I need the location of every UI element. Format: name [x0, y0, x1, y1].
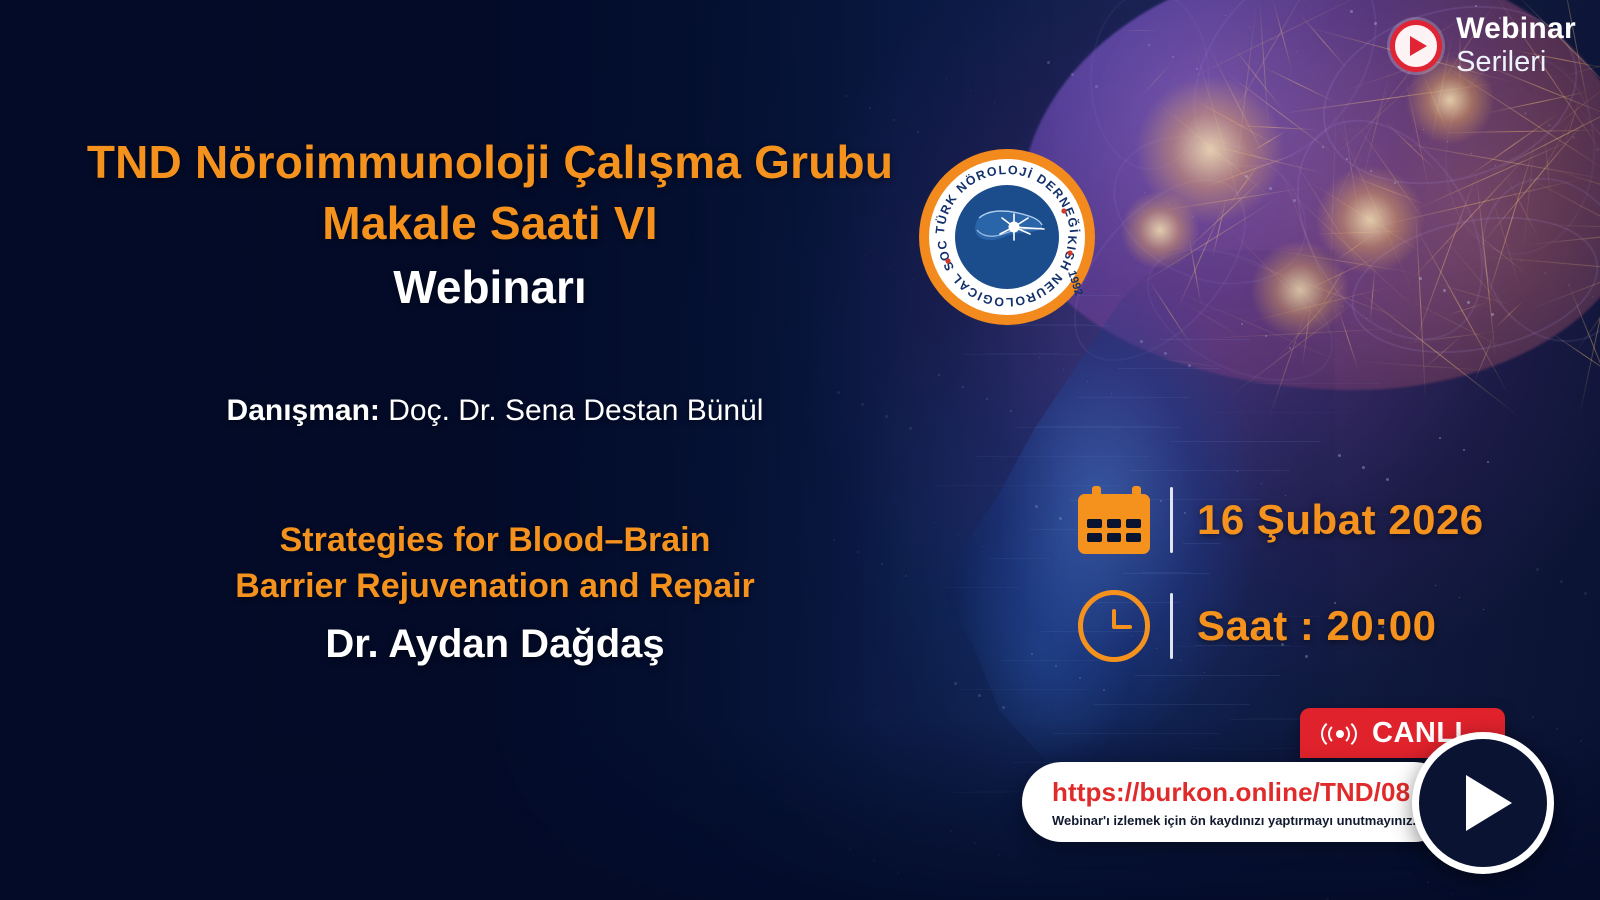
event-date-row: 16 Şubat 2026: [1078, 474, 1484, 566]
advisor-line: Danışman: Doç. Dr. Sena Destan Bünül: [0, 394, 990, 428]
registration-note: Webinar'ı izlemek için ön kaydınızı yapt…: [1052, 813, 1454, 828]
registration-url-bar[interactable]: https://burkon.online/TND/08 Webinar'ı i…: [1022, 762, 1454, 842]
series-line-1: Webinar: [1456, 14, 1576, 44]
registration-url[interactable]: https://burkon.online/TND/08: [1052, 777, 1454, 808]
paper-title-line-2: Barrier Rejuvenation and Repair: [0, 564, 990, 610]
webinar-poster: Webinar Serileri: [0, 0, 1600, 900]
advisor-label: Danışman:: [227, 394, 380, 427]
headline-block: TND Nöroimmunoloji Çalışma Grubu Makale …: [0, 132, 980, 318]
speaker-name: Dr. Aydan Dağdaş: [0, 622, 990, 667]
play-circle-icon: [1390, 20, 1442, 72]
neural-network-overlay: [1120, 30, 1580, 390]
broadcast-icon: [1318, 719, 1360, 747]
paper-title-block: Strategies for Blood–Brain Barrier Rejuv…: [0, 518, 990, 610]
headline-line-1: TND Nöroimmunoloji Çalışma Grubu: [0, 132, 980, 193]
calendar-icon: [1078, 486, 1156, 554]
meta-divider: [1170, 593, 1173, 659]
meta-divider: [1170, 487, 1173, 553]
event-date-value: 16 Şubat 2026: [1197, 496, 1484, 544]
play-triangle-icon: [1466, 775, 1512, 831]
event-time-row: Saat : 20:00: [1078, 580, 1484, 672]
webinar-series-logo: Webinar Serileri: [1390, 14, 1576, 77]
advisor-name: Doç. Dr. Sena Destan Bünül: [388, 394, 763, 427]
headline-line-2: Makale Saati VI: [0, 193, 980, 254]
webinar-series-text: Webinar Serileri: [1456, 14, 1576, 77]
series-line-2: Serileri: [1456, 48, 1576, 77]
event-meta-block: 16 Şubat 2026 Saat : 20:00: [1078, 474, 1484, 672]
paper-title-line-1: Strategies for Blood–Brain: [0, 518, 990, 564]
clock-icon: [1078, 590, 1156, 662]
play-button[interactable]: [1412, 732, 1554, 874]
event-time-value: Saat : 20:00: [1197, 602, 1436, 650]
headline-line-3: Webinarı: [0, 257, 980, 318]
